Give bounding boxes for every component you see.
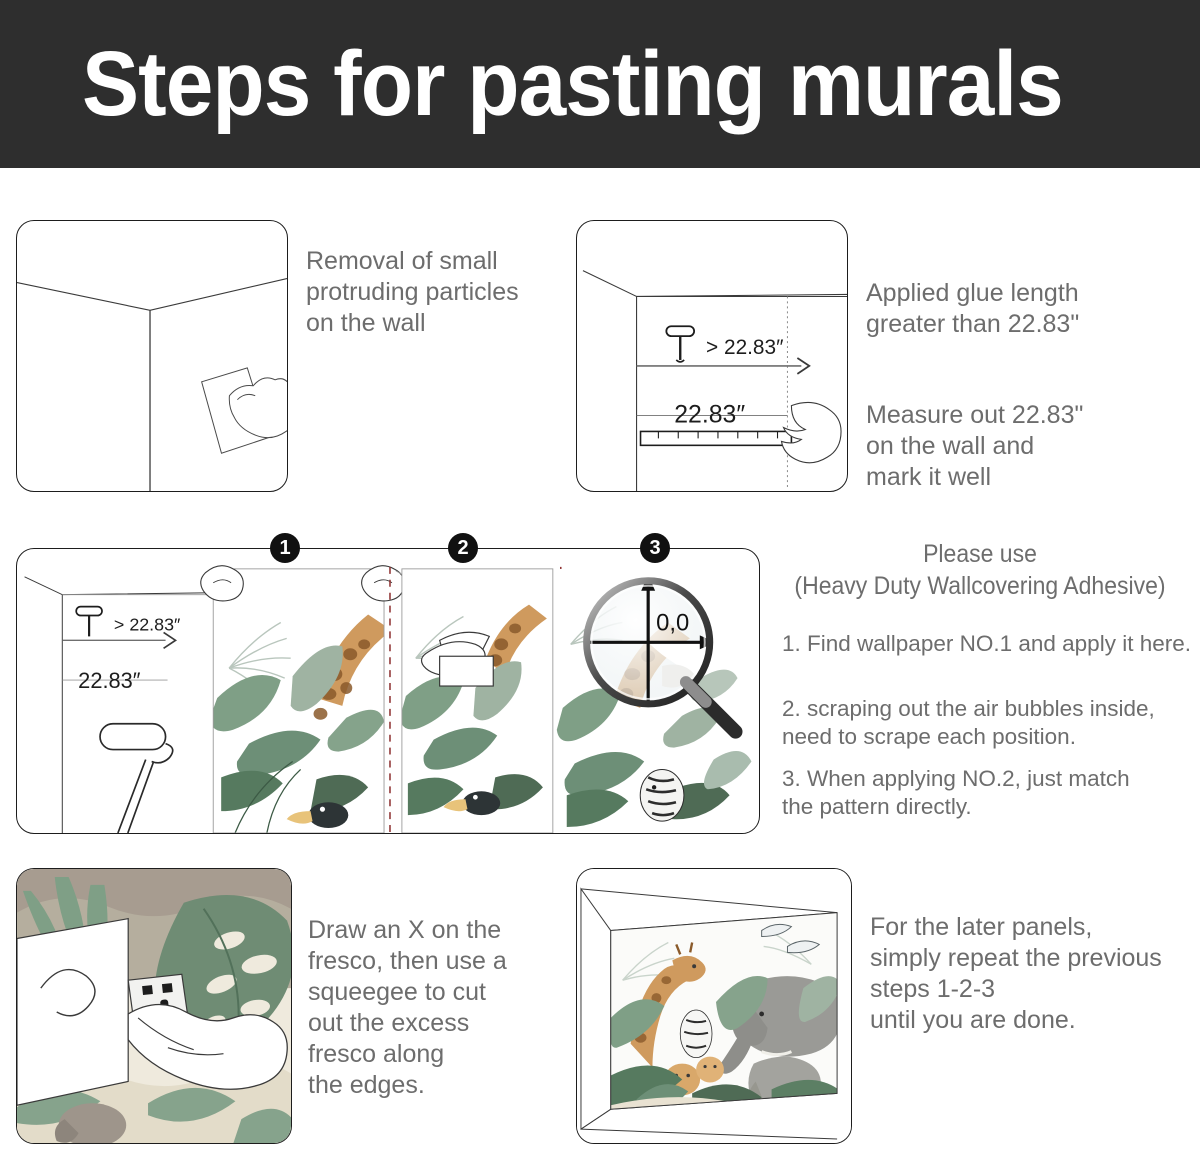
- magnifier-origin-label: 0,0: [656, 609, 689, 636]
- label-glue-length-steps: > 22.83″: [114, 614, 180, 634]
- page-title: Steps for pasting murals: [82, 34, 1063, 134]
- label-measure-steps: 22.83″: [78, 668, 141, 693]
- wall-corner-illustration: [17, 221, 287, 491]
- glue-measure-illustration: > 22.83″ 22.83″: [577, 221, 847, 491]
- step-badge-2: 2: [448, 533, 478, 563]
- cutting-illustration: [17, 869, 291, 1143]
- caption-sanding: Removal of small protruding particles on…: [306, 246, 576, 339]
- steps-illustration: > 22.83″ 22.83″: [17, 549, 759, 833]
- label-glue-length: > 22.83″: [706, 336, 783, 359]
- instruction-1: 1. Find wallpaper NO.1 and apply it here…: [782, 630, 1197, 658]
- adhesive-heading: Please use (Heavy Duty Wallcovering Adhe…: [787, 538, 1173, 602]
- hand-right-icon: [362, 566, 405, 601]
- panel-sanding: [16, 220, 288, 492]
- caption-measure: Measure out 22.83" on the wall and mark …: [866, 400, 1186, 493]
- panel-steps: > 22.83″ 22.83″: [16, 548, 760, 834]
- hand-left-icon: [201, 566, 244, 601]
- label-measure: 22.83″: [674, 402, 745, 429]
- safari-mural: [610, 909, 842, 1116]
- wallpaper-strip-1: [209, 569, 392, 833]
- instruction-2: 2. scraping out the air bubbles inside, …: [782, 695, 1197, 751]
- panel-finished-room: [576, 868, 852, 1144]
- finished-room-illustration: [577, 869, 851, 1143]
- panel-glue: > 22.83″ 22.83″: [576, 220, 848, 492]
- zebra-icon-room: [680, 1010, 712, 1058]
- caption-finished-room: For the later panels, simply repeat the …: [870, 912, 1200, 1036]
- panel-cutting: [16, 868, 292, 1144]
- step-badge-1: 1: [270, 533, 300, 563]
- caption-glue: Applied glue length greater than 22.83": [866, 278, 1186, 340]
- step-badge-3: 3: [640, 533, 670, 563]
- instruction-3: 3. When applying NO.2, just match the pa…: [782, 765, 1197, 821]
- wallpaper-strip-2: [400, 569, 553, 833]
- zebra-icon: [640, 769, 684, 821]
- caption-cutting: Draw an X on the fresco, then use a sque…: [308, 915, 578, 1101]
